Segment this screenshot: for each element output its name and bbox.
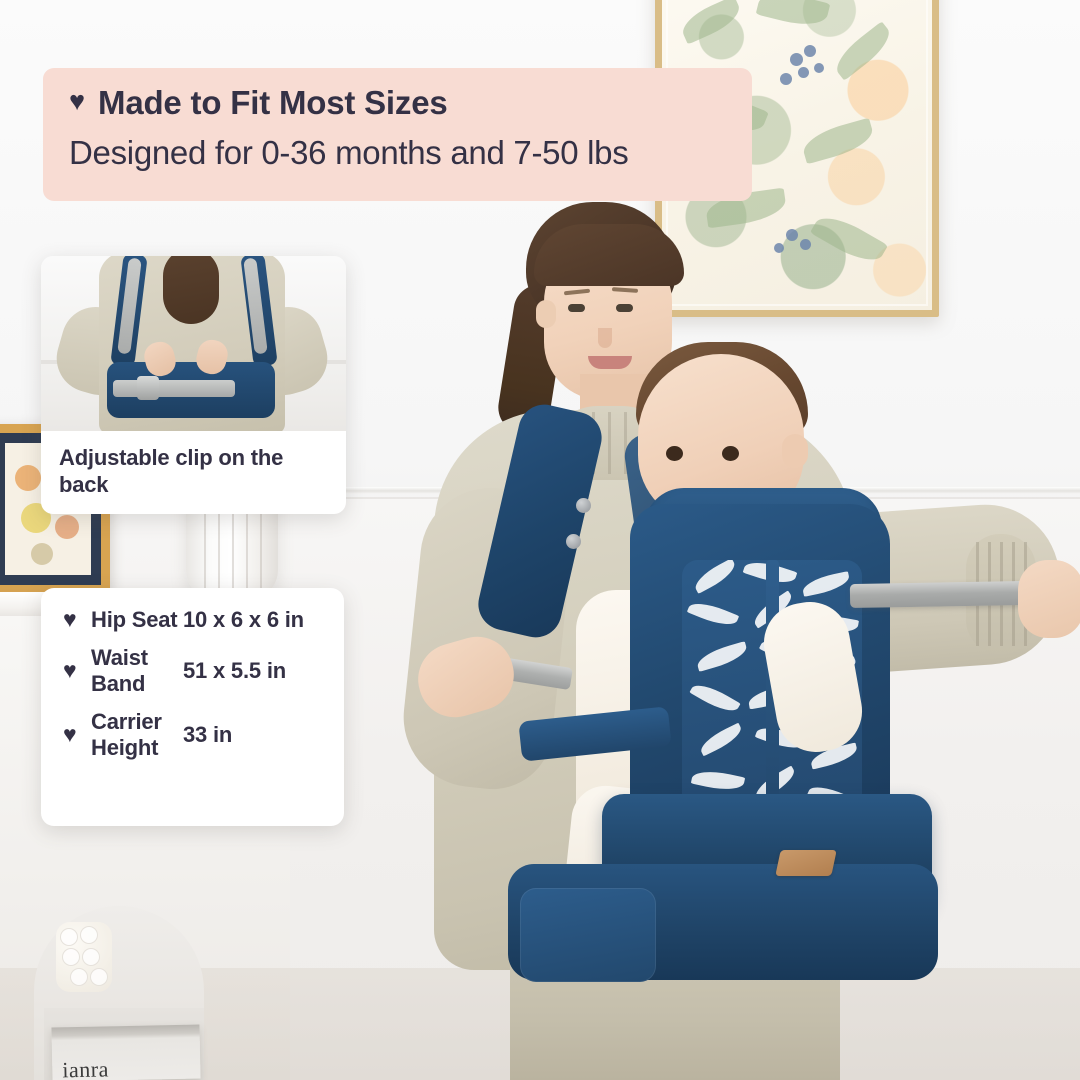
spec-label: Waist Band (91, 645, 183, 697)
carrier-snap (576, 498, 591, 513)
product-feature-image: ianra (0, 0, 1080, 1080)
mother-right-hand (1018, 560, 1080, 638)
carrier-brand-tag (775, 850, 837, 876)
headline-banner: ♥ Made to Fit Most Sizes Designed for 0-… (43, 68, 752, 201)
spec-label: Carrier Height (91, 709, 183, 761)
spec-value: 33 in (183, 722, 328, 748)
spec-row-carrier-height: ♥ Carrier Height 33 in (57, 709, 328, 761)
banner-title: Made to Fit Most Sizes (98, 86, 447, 121)
spec-row-waist-band: ♥ Waist Band 51 x 5.5 in (57, 645, 328, 697)
spec-value: 10 x 6 x 6 in (183, 607, 328, 633)
baby-ear (782, 434, 808, 468)
banner-subtitle: Designed for 0-36 months and 7-50 lbs (69, 135, 726, 172)
mother-ear (536, 300, 556, 328)
feature-inset-card: Adjustable clip on the back (41, 256, 346, 514)
heart-icon: ♥ (57, 721, 91, 748)
spec-row-hip-seat: ♥ Hip Seat 10 x 6 x 6 in (57, 606, 328, 633)
baby-eye (666, 446, 683, 461)
inset-caption: Adjustable clip on the back (41, 431, 346, 499)
mother-and-baby (330, 188, 1080, 1080)
mother-hair-front (534, 224, 684, 286)
carrier-storage-pocket (520, 888, 656, 982)
book-title-text: ianra (62, 1056, 109, 1080)
bubble-candle (56, 922, 112, 992)
heart-icon: ♥ (57, 657, 91, 684)
spec-value: 51 x 5.5 in (183, 658, 328, 684)
decorative-book: ianra (51, 1024, 200, 1080)
carrier-snap (566, 534, 581, 549)
back-clip-photo (41, 256, 346, 431)
heart-icon: ♥ (57, 606, 91, 633)
spec-label: Hip Seat (91, 607, 183, 633)
specifications-card: ♥ Hip Seat 10 x 6 x 6 in ♥ Waist Band 51… (41, 588, 344, 826)
baby-eye (722, 446, 739, 461)
heart-icon: ♥ (69, 88, 85, 115)
